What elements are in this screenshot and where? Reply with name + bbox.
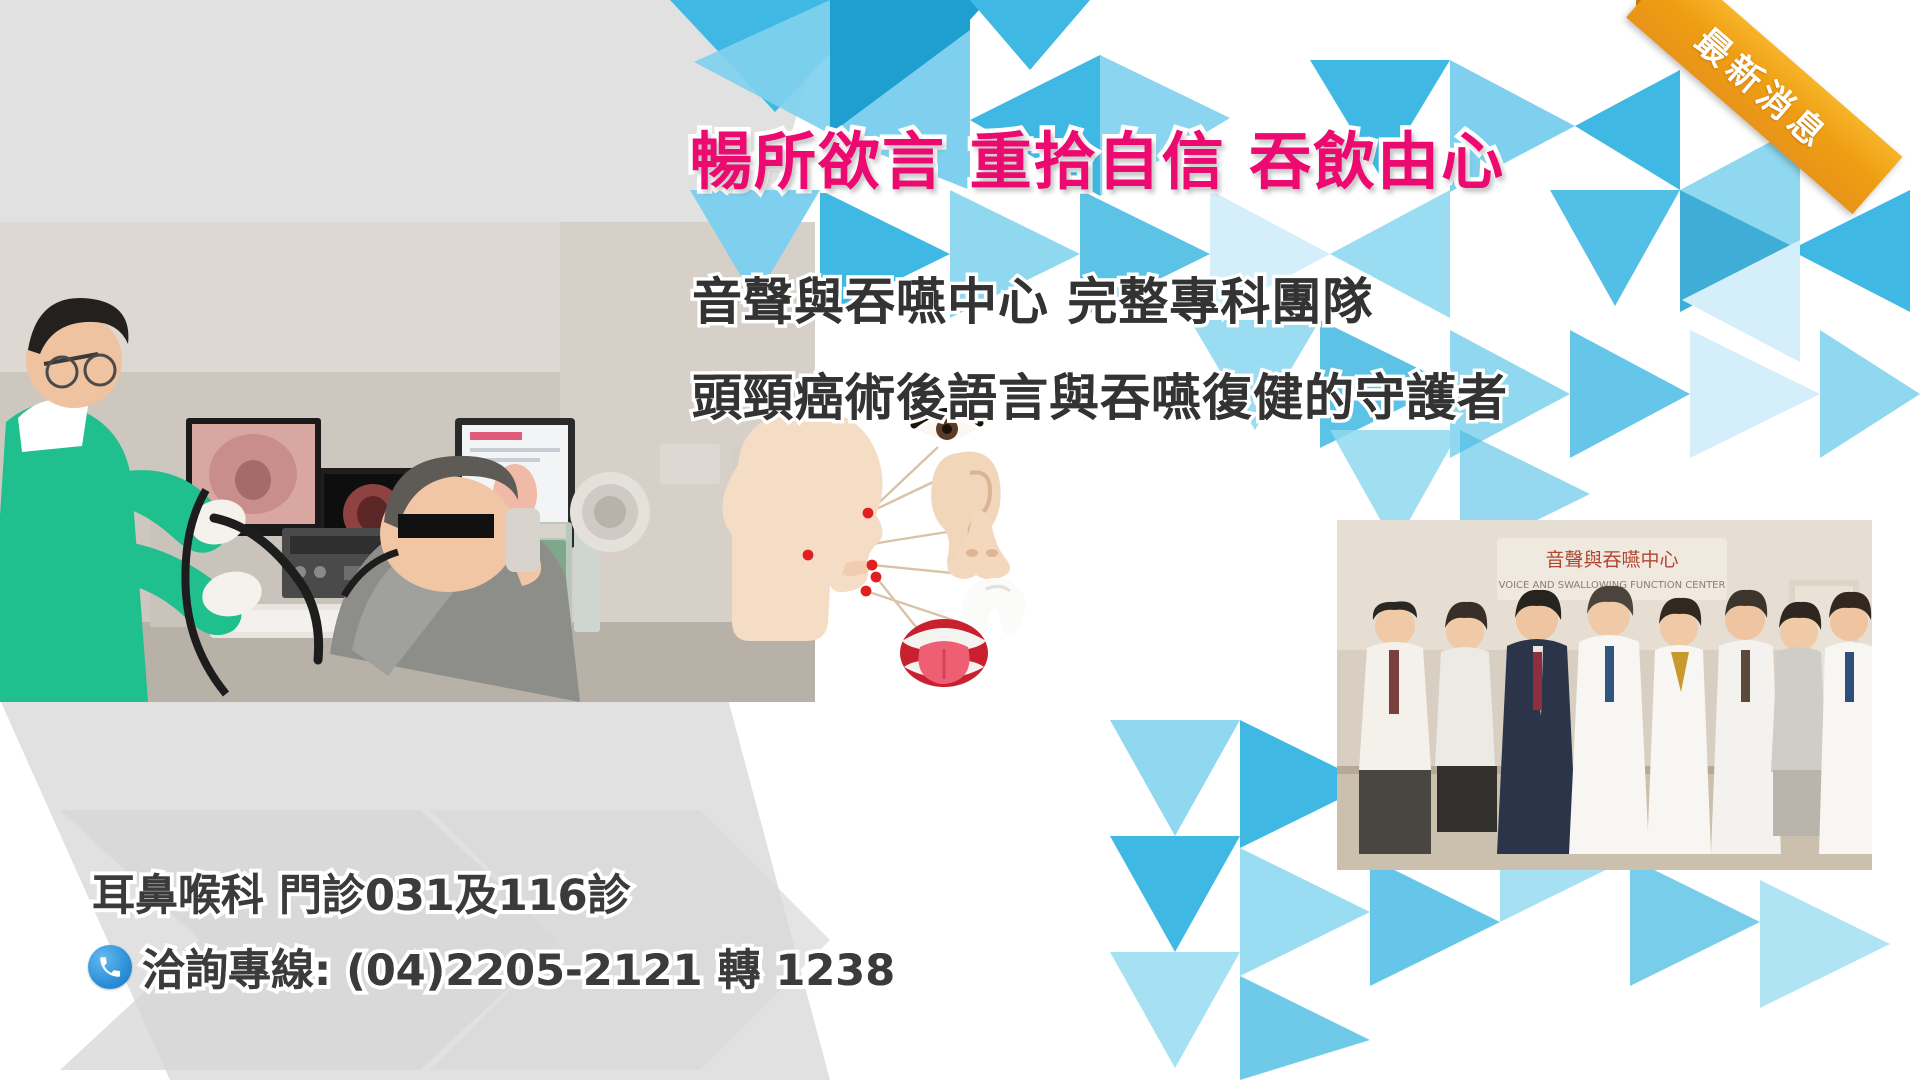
tongue-icon [900,619,988,687]
promotional-banner: 音聲與吞嚥中心 VOICE AND SWALLOWING FUNCTION CE… [0,0,1920,1080]
tooth-icon [963,578,1026,635]
phone-number: 洽詢專線: (04)2205-2121 轉 1238 [142,946,895,996]
phone-icon [88,945,132,989]
svg-text:音聲與吞嚥中心: 音聲與吞嚥中心 [1545,549,1678,571]
head-anatomy-diagram [690,395,1050,695]
subtitle-line-1: 音聲與吞嚥中心 完整專科團隊 [692,272,1373,332]
subtitle-line-2: 頭頸癌術後語言與吞嚥復健的守護者 [692,368,1508,428]
page-title: 暢所欲言 重拾自信 吞飲由心 [690,126,1810,198]
medical-team-group-photo: 音聲與吞嚥中心 VOICE AND SWALLOWING FUNCTION CE… [1337,520,1872,870]
clinic-info: 耳鼻喉科 門診031及116診 [92,861,631,923]
contact-phone-row: 洽詢專線: (04)2205-2121 轉 1238 洽詢專線: (04)220… [88,936,895,998]
